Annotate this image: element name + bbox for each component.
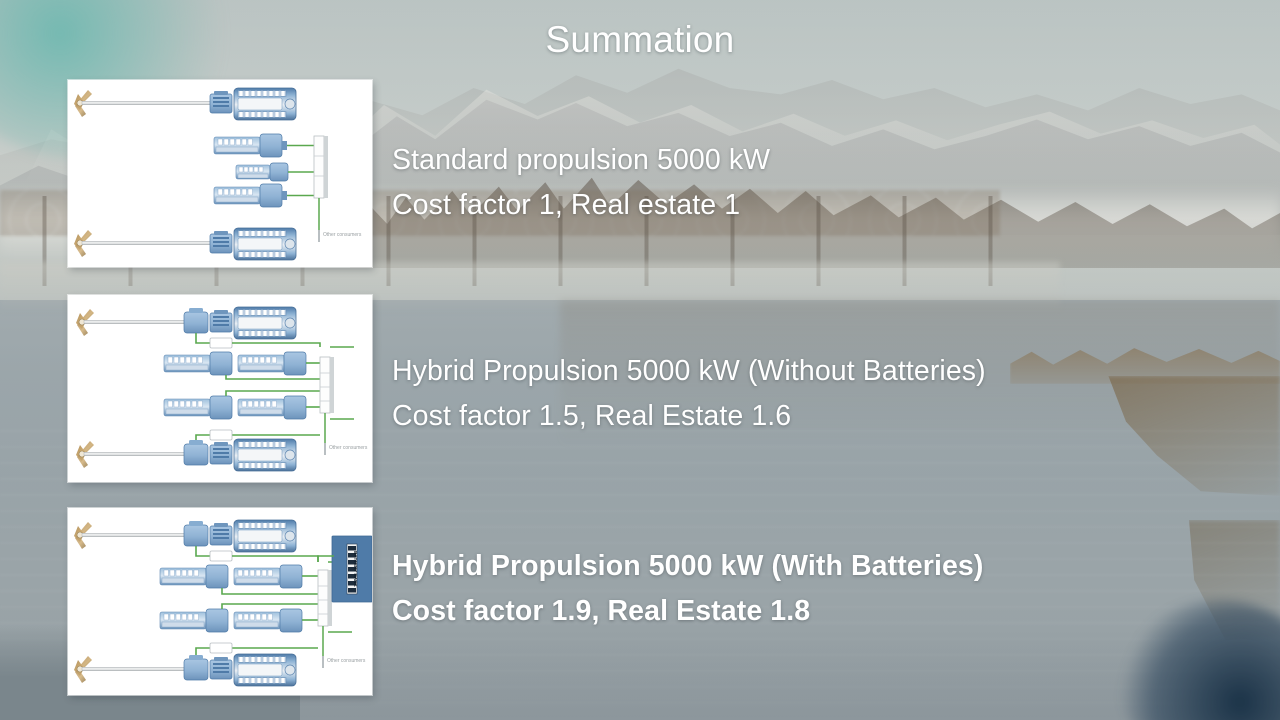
shaft-generator-lower [184, 655, 208, 680]
shaft-generator-lower [184, 440, 208, 465]
standard-propulsion-diagram: Other consumers [68, 80, 372, 267]
shaft-line-upper [74, 522, 184, 549]
main-engine-upper [234, 307, 296, 339]
hybrid-no-batteries-line-2: Cost factor 1.5, Real Estate 1.6 [392, 394, 986, 439]
genset-2 [238, 352, 320, 375]
main-engine-upper [234, 520, 296, 552]
gearbox-lower [210, 442, 232, 464]
hybrid-with-batteries-line-1: Hybrid Propulsion 5000 kW (With Batterie… [392, 544, 983, 589]
other-consumers-label: Other consumers [323, 232, 362, 238]
slide: Summation [0, 0, 1280, 720]
hybrid-propulsion-no-battery-diagram: Other consumers [68, 295, 372, 482]
genset-4 [238, 396, 320, 419]
main-engine-lower [234, 654, 296, 686]
genset-2 [234, 565, 318, 588]
shaft-line-upper [76, 309, 184, 336]
other-consumers-label: Other consumers [329, 445, 368, 451]
text-block-hybrid-no-batteries: Hybrid Propulsion 5000 kW (Without Batte… [392, 349, 986, 439]
battery-bank: BATTERY BANK [332, 536, 372, 602]
main-engine-upper [234, 88, 296, 120]
standard-line-1: Standard propulsion 5000 kW [392, 138, 770, 183]
genset-3 [214, 184, 314, 207]
shaft-line-lower [74, 230, 210, 257]
genset-1 [214, 134, 314, 157]
hybrid-with-batteries-line-2: Cost factor 1.9, Real Estate 1.8 [392, 589, 983, 634]
text-block-hybrid-with-batteries: Hybrid Propulsion 5000 kW (With Batterie… [392, 544, 983, 634]
battery-bank-label: BATTERY BANK [353, 551, 358, 587]
shaft-line-upper [74, 90, 210, 117]
switchboard-bus [314, 136, 328, 198]
gearbox-upper [210, 91, 232, 113]
genset-4 [234, 609, 318, 632]
genset-2 [236, 163, 314, 181]
shaft-line-lower [76, 441, 184, 468]
gearbox-upper [210, 310, 232, 332]
main-engine-lower [234, 228, 296, 260]
text-block-standard: Standard propulsion 5000 kW Cost factor … [392, 138, 770, 228]
page-title: Summation [340, 18, 940, 62]
shaft-generator-upper [184, 521, 208, 546]
hybrid-propulsion-battery-diagram: BATTERY BANK Other consumers [68, 508, 372, 695]
standard-line-2: Cost factor 1, Real estate 1 [392, 183, 770, 228]
gearbox-lower [210, 231, 232, 253]
other-consumers-label: Other consumers [327, 658, 366, 664]
hybrid-no-batteries-line-1: Hybrid Propulsion 5000 kW (Without Batte… [392, 349, 986, 394]
gearbox-upper [210, 523, 232, 545]
shaft-line-lower [74, 656, 184, 683]
gearbox-lower [210, 657, 232, 679]
switchboard-bus [320, 347, 354, 419]
main-engine-lower [234, 439, 296, 471]
shaft-generator-upper [184, 308, 208, 333]
